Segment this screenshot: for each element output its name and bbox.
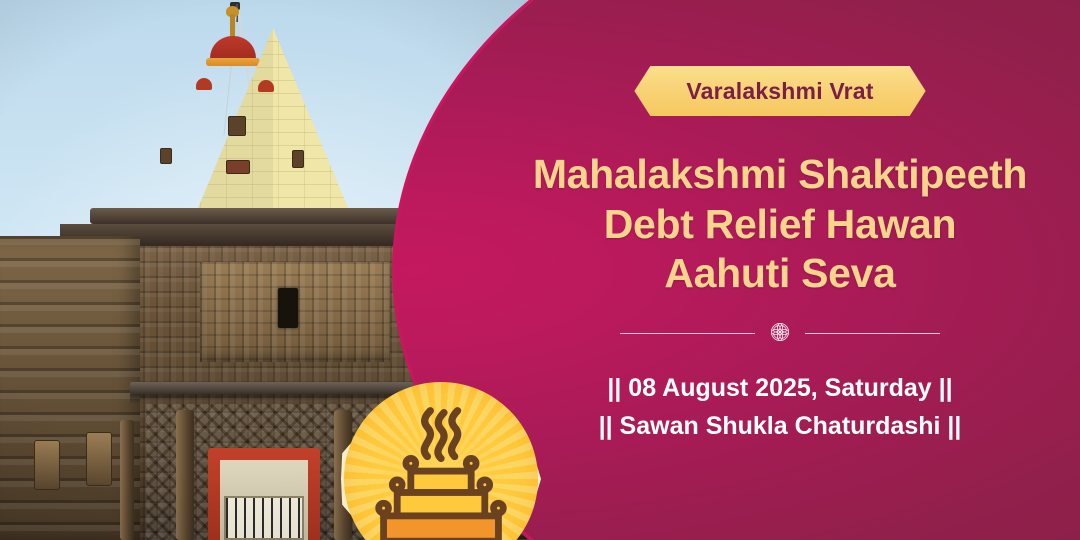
page-title: Mahalakshmi Shaktipeeth Debt Relief Hawa…: [533, 150, 1027, 299]
hawan-kund-icon: [368, 400, 514, 540]
event-tag-label: Varalakshmi Vrat: [686, 78, 873, 105]
rosette-icon: [769, 321, 791, 347]
hawan-badge: [338, 376, 544, 540]
title-line-1: Mahalakshmi Shaktipeeth: [533, 150, 1027, 200]
title-line-2: Debt Relief Hawan: [533, 200, 1027, 250]
event-date-gregorian: || 08 August 2025, Saturday ||: [599, 369, 962, 407]
event-date-block: || 08 August 2025, Saturday || || Sawan …: [599, 369, 962, 445]
title-line-3: Aahuti Seva: [533, 249, 1027, 299]
divider-line-left: [620, 333, 755, 334]
ornamental-divider: [620, 321, 940, 347]
banner-content: Varalakshmi Vrat Mahalakshmi Shaktipeeth…: [480, 0, 1080, 540]
event-banner: Varalakshmi Vrat Mahalakshmi Shaktipeeth…: [0, 0, 1080, 540]
divider-line-right: [805, 333, 940, 334]
event-date-tithi: || Sawan Shukla Chaturdashi ||: [599, 407, 962, 445]
event-tag-ribbon: Varalakshmi Vrat: [634, 66, 925, 116]
